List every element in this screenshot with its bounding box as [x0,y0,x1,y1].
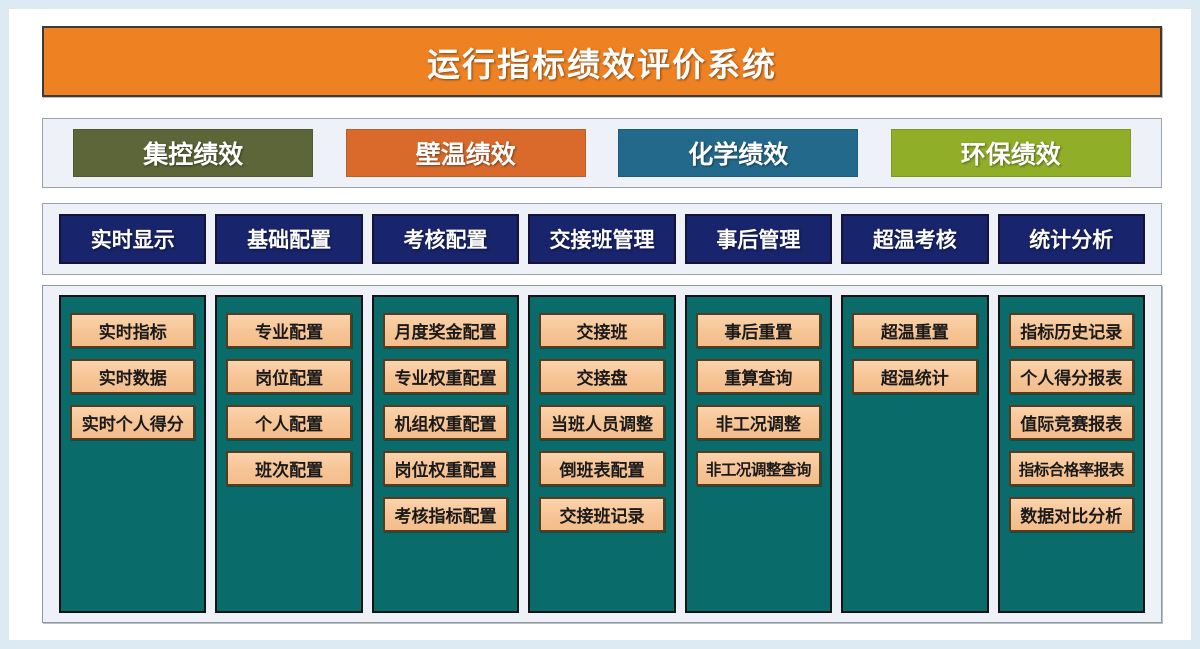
menu-item-button[interactable]: 超温统计 [852,359,977,394]
category-tab-slot: 环保绩效 [875,129,1148,177]
menu-item-button[interactable]: 实时数据 [70,359,195,394]
menu-item-button[interactable]: 交接盘 [539,359,664,394]
menu-column-1: 专业配置岗位配置个人配置班次配置 [215,295,362,613]
menu-column-0: 实时指标实时数据实时个人得分 [59,295,206,613]
page-title: 运行指标绩效评价系统 [427,38,777,86]
menu-item-button[interactable]: 专业权重配置 [383,359,508,394]
menu-item-button[interactable]: 岗位权重配置 [383,451,508,486]
category-tab-2[interactable]: 化学绩效 [618,129,858,177]
menu-item-button[interactable]: 交接班记录 [539,497,664,532]
category-tab-strip: 集控绩效壁温绩效化学绩效环保绩效 [42,118,1162,188]
menu-item-button[interactable]: 专业配置 [226,313,351,348]
menu-item-button[interactable]: 实时个人得分 [70,405,195,440]
menu-item-button[interactable]: 非工况调整查询 [696,451,821,486]
menu-item-button[interactable]: 重算查询 [696,359,821,394]
menu-item-button[interactable]: 当班人员调整 [539,405,664,440]
nav-tab-1[interactable]: 基础配置 [215,214,362,264]
nav-tab-5[interactable]: 超温考核 [841,214,988,264]
nav-tab-strip: 实时显示基础配置考核配置交接班管理事后管理超温考核统计分析 [42,203,1162,275]
menu-item-button[interactable]: 机组权重配置 [383,405,508,440]
menu-columns-panel: 实时指标实时数据实时个人得分专业配置岗位配置个人配置班次配置月度奖金配置专业权重… [42,285,1162,623]
menu-item-button[interactable]: 指标合格率报表 [1009,451,1134,486]
menu-item-button[interactable]: 个人得分报表 [1009,359,1134,394]
category-tab-slot: 壁温绩效 [330,129,603,177]
menu-item-button[interactable]: 交接班 [539,313,664,348]
menu-item-button[interactable]: 考核指标配置 [383,497,508,532]
category-tab-slot: 化学绩效 [602,129,875,177]
menu-item-button[interactable]: 倒班表配置 [539,451,664,486]
menu-column-5: 超温重置超温统计 [841,295,988,613]
category-tab-slot: 集控绩效 [57,129,330,177]
menu-item-button[interactable]: 月度奖金配置 [383,313,508,348]
menu-column-6: 指标历史记录个人得分报表值际竞赛报表指标合格率报表数据对比分析 [998,295,1145,613]
application-window: 运行指标绩效评价系统 集控绩效壁温绩效化学绩效环保绩效 实时显示基础配置考核配置… [0,0,1200,649]
app-title-bar: 运行指标绩效评价系统 [42,26,1162,97]
menu-item-button[interactable]: 岗位配置 [226,359,351,394]
nav-tab-6[interactable]: 统计分析 [998,214,1145,264]
menu-item-button[interactable]: 班次配置 [226,451,351,486]
menu-item-button[interactable]: 超温重置 [852,313,977,348]
menu-column-4: 事后重置重算查询非工况调整非工况调整查询 [685,295,832,613]
menu-item-button[interactable]: 个人配置 [226,405,351,440]
nav-tab-4[interactable]: 事后管理 [685,214,832,264]
menu-item-button[interactable]: 指标历史记录 [1009,313,1134,348]
category-tab-1[interactable]: 壁温绩效 [346,129,586,177]
menu-item-button[interactable]: 非工况调整 [696,405,821,440]
menu-item-button[interactable]: 数据对比分析 [1009,497,1134,532]
nav-tab-2[interactable]: 考核配置 [372,214,519,264]
nav-tab-3[interactable]: 交接班管理 [528,214,675,264]
menu-column-3: 交接班交接盘当班人员调整倒班表配置交接班记录 [528,295,675,613]
nav-tab-0[interactable]: 实时显示 [59,214,206,264]
menu-item-button[interactable]: 实时指标 [70,313,195,348]
category-tab-3[interactable]: 环保绩效 [891,129,1131,177]
menu-item-button[interactable]: 值际竞赛报表 [1009,405,1134,440]
menu-column-2: 月度奖金配置专业权重配置机组权重配置岗位权重配置考核指标配置 [372,295,519,613]
category-tab-0[interactable]: 集控绩效 [73,129,313,177]
menu-item-button[interactable]: 事后重置 [696,313,821,348]
